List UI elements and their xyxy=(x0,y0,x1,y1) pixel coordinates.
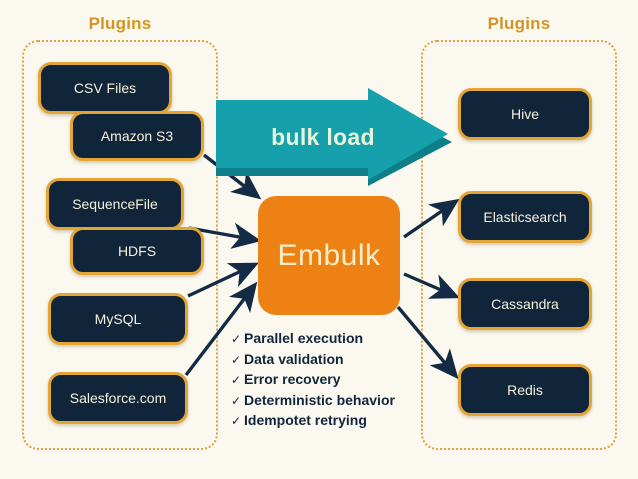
feature-label: Idempotet retrying xyxy=(244,411,367,431)
node-label: SequenceFile xyxy=(72,196,158,212)
node-label: Salesforce.com xyxy=(70,390,166,406)
plugin-node-elasticsearch[interactable]: Elasticsearch xyxy=(458,191,592,243)
plugin-node-hive[interactable]: Hive xyxy=(458,88,592,140)
feature-label: Data validation xyxy=(244,350,344,370)
check-icon: ✓ xyxy=(231,351,244,371)
feature-label: Parallel execution xyxy=(244,329,363,349)
left-plugins-title: Plugins xyxy=(22,14,218,34)
plugin-node-mysql[interactable]: MySQL xyxy=(48,293,188,345)
plugin-node-amazon-s3[interactable]: Amazon S3 xyxy=(70,111,204,161)
node-label: Hive xyxy=(511,106,539,122)
check-icon: ✓ xyxy=(231,330,244,350)
feature-label: Error recovery xyxy=(244,370,341,390)
bulk-load-arrow xyxy=(216,88,452,186)
plugin-node-salesforce[interactable]: Salesforce.com xyxy=(48,372,188,424)
node-label: Elasticsearch xyxy=(483,209,566,225)
check-icon: ✓ xyxy=(231,392,244,412)
plugin-node-hdfs[interactable]: HDFS xyxy=(70,227,204,275)
feature-label: Deterministic behavior xyxy=(244,391,395,411)
plugin-node-csv-files[interactable]: CSV Files xyxy=(38,62,172,114)
node-label: Cassandra xyxy=(491,296,559,312)
check-icon: ✓ xyxy=(231,371,244,391)
check-icon: ✓ xyxy=(231,412,244,432)
plugin-node-cassandra[interactable]: Cassandra xyxy=(458,278,592,330)
plugin-node-sequencefile[interactable]: SequenceFile xyxy=(46,178,184,230)
node-label: HDFS xyxy=(118,243,156,259)
embulk-core-box[interactable]: Embulk xyxy=(258,196,400,315)
feature-item: ✓ Data validation xyxy=(231,350,436,371)
node-label: Amazon S3 xyxy=(101,128,173,144)
feature-item: ✓ Error recovery xyxy=(231,370,436,391)
embulk-label: Embulk xyxy=(277,239,380,273)
node-label: MySQL xyxy=(95,311,142,327)
node-label: CSV Files xyxy=(74,80,136,96)
plugin-node-redis[interactable]: Redis xyxy=(458,364,592,416)
diagram-canvas: Plugins Plugins bulk load CSV Files xyxy=(0,0,638,479)
node-label: Redis xyxy=(507,382,543,398)
right-plugins-title: Plugins xyxy=(421,14,617,34)
feature-checklist: ✓ Parallel execution ✓ Data validation ✓… xyxy=(231,329,436,432)
feature-item: ✓ Idempotet retrying xyxy=(231,411,436,432)
feature-item: ✓ Deterministic behavior xyxy=(231,391,436,412)
feature-item: ✓ Parallel execution xyxy=(231,329,436,350)
